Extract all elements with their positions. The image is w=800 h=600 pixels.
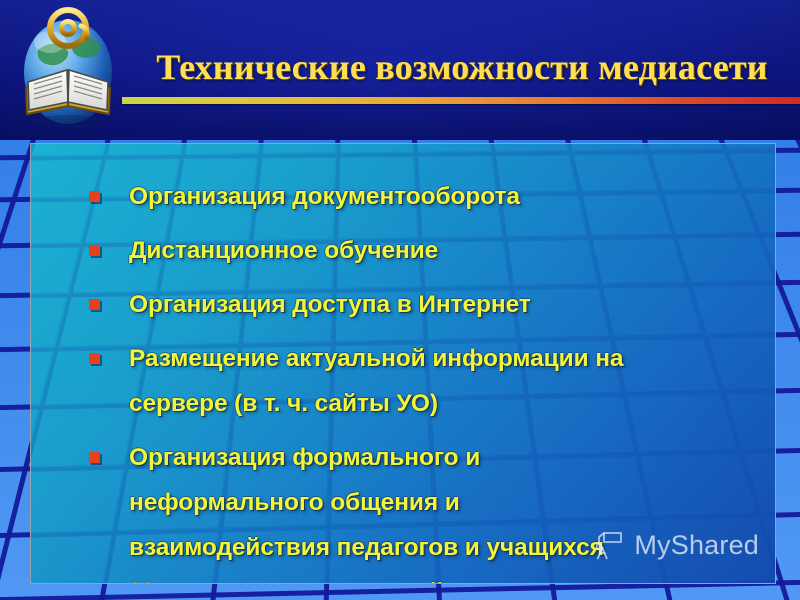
list-item-text: Дистанционное обучение: [129, 228, 757, 273]
list-item-line: Организация формального и: [129, 435, 757, 480]
slide-header: Технические возможности медиасети: [0, 0, 800, 140]
list-item-line: взаимодействия педагогов и учащихся: [129, 525, 757, 570]
bullet-marker-icon: [89, 299, 100, 310]
list-item-text: Организация документооборота: [129, 174, 757, 219]
list-item: Организация формального и неформального …: [87, 435, 757, 584]
list-item-line: Дистанционное обучение: [129, 228, 757, 273]
content-panel: Организация документооборота Дистанционн…: [30, 143, 776, 584]
list-item: Организация документооборота: [87, 174, 757, 219]
list-item-line: Организация доступа в Интернет: [129, 282, 757, 327]
presentation-slide: Технические возможности медиасети: [0, 0, 800, 600]
list-item-line: неформального общения и: [129, 480, 757, 525]
list-item-text: Организация доступа в Интернет: [129, 282, 757, 327]
list-item: Размещение актуальной информации на серв…: [87, 336, 757, 426]
bullet-marker-icon: [89, 452, 100, 463]
list-item-text: Размещение актуальной информации на серв…: [129, 336, 757, 426]
list-item-line: Организация документооборота: [129, 174, 757, 219]
bullet-marker-icon: [89, 191, 100, 202]
page-title: Технические возможности медиасети: [132, 44, 792, 92]
list-item-line: (форум, чат, электронный журнал,: [129, 570, 757, 584]
list-item: Дистанционное обучение: [87, 228, 757, 273]
list-item: Организация доступа в Интернет: [87, 282, 757, 327]
list-item-line: сервере (в т. ч. сайты УО): [129, 381, 757, 426]
list-item-text: Организация формального и неформального …: [129, 435, 757, 584]
globe-book-at-logo: [16, 6, 120, 134]
bullet-marker-icon: [89, 245, 100, 256]
bullet-list: Организация документооборота Дистанционн…: [31, 144, 776, 584]
list-item-line: Размещение актуальной информации на: [129, 336, 757, 381]
title-divider: [122, 97, 800, 104]
bullet-marker-icon: [89, 353, 100, 364]
